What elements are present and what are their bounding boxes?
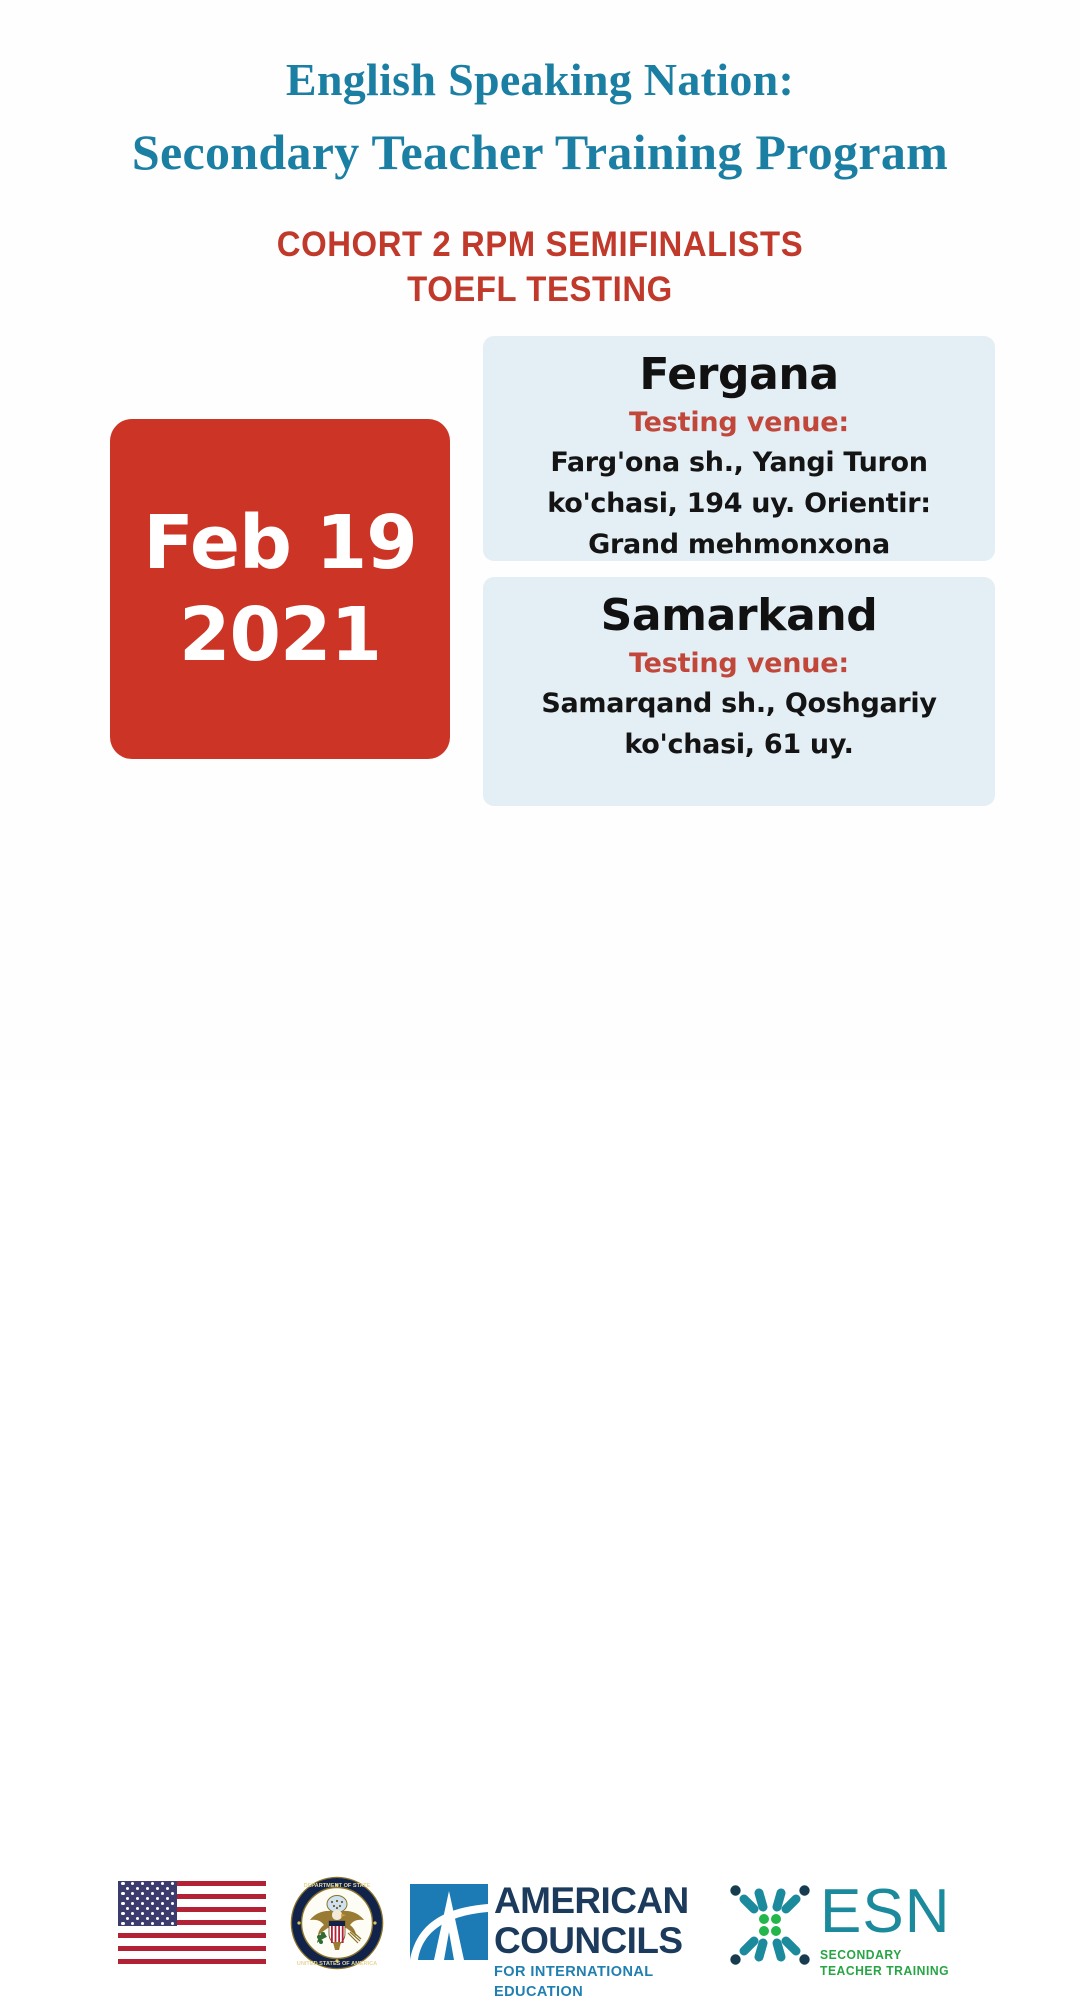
flag-star	[166, 1887, 169, 1890]
flag-star	[166, 1897, 169, 1900]
venue-address-line: Samarqand sh., Qoshgariy	[495, 683, 983, 724]
flag-star	[156, 1897, 159, 1900]
flag-star	[146, 1887, 149, 1890]
venue-card-samarkand: Samarkand Testing venue: Samarqand sh., …	[483, 577, 995, 806]
esn-word: ESN	[820, 1881, 963, 1943]
flag-star	[121, 1912, 124, 1915]
flag-star	[131, 1912, 134, 1915]
american-councils-mark-icon	[408, 1884, 490, 1969]
subtitle-line-1: COHORT 2 RPM SEMIFINALISTS	[32, 222, 1047, 267]
flag-star	[126, 1887, 129, 1890]
flag-star	[161, 1892, 164, 1895]
flag-star	[131, 1902, 134, 1905]
american-councils-logo: AMERICAN COUNCILS FOR INTERNATIONAL EDUC…	[408, 1882, 698, 1966]
flag-star	[151, 1912, 154, 1915]
venue-card-fergana: Fergana Testing venue: Farg'ona sh., Yan…	[483, 336, 995, 561]
flag-star	[156, 1917, 159, 1920]
american-councils-wordmark: AMERICAN COUNCILS FOR INTERNATIONAL EDUC…	[494, 1882, 698, 2002]
flag-star	[141, 1922, 144, 1925]
flag-star	[121, 1902, 124, 1905]
flag-star	[166, 1907, 169, 1910]
american-councils-tagline: FOR INTERNATIONAL EDUCATION	[494, 1962, 698, 2002]
svg-text:UNITED STATES OF AMERICA: UNITED STATES OF AMERICA	[297, 1961, 377, 1967]
flag-star	[121, 1892, 124, 1895]
flag-star	[136, 1887, 139, 1890]
flag-star	[126, 1907, 129, 1910]
flag-star	[171, 1882, 174, 1885]
flag-star	[146, 1907, 149, 1910]
flag-star	[131, 1882, 134, 1885]
flag-star	[131, 1892, 134, 1895]
esn-logo: ESN SECONDARY TEACHER TRAINING	[728, 1883, 963, 1969]
flag-star	[121, 1922, 124, 1925]
flag-canton	[118, 1881, 177, 1926]
flag-star	[151, 1892, 154, 1895]
flag-star	[156, 1907, 159, 1910]
date-line-1: Feb 19	[143, 497, 416, 589]
flag-star	[141, 1882, 144, 1885]
american-councils-line-2: COUNCILS	[494, 1922, 698, 1959]
venue-city: Samarkand	[495, 587, 983, 645]
flag-star	[151, 1902, 154, 1905]
venue-address-line: ko'chasi, 61 uy.	[495, 724, 983, 765]
flag-star	[146, 1897, 149, 1900]
flag-star	[161, 1902, 164, 1905]
flag-star	[136, 1897, 139, 1900]
venue-city: Fergana	[495, 346, 983, 404]
flag-star	[156, 1887, 159, 1890]
flag-star	[166, 1917, 169, 1920]
flag-star	[161, 1922, 164, 1925]
flag-star	[151, 1882, 154, 1885]
flag-star	[146, 1917, 149, 1920]
flag-star	[141, 1912, 144, 1915]
flag-star	[136, 1917, 139, 1920]
flag-stripe	[118, 1946, 266, 1951]
title-line-2: Secondary Teacher Training Program	[0, 116, 1080, 188]
flag-star	[151, 1922, 154, 1925]
poster-canvas: English Speaking Nation: Secondary Teach…	[0, 0, 1080, 1080]
flag-star	[171, 1912, 174, 1915]
esn-wordmark: ESN SECONDARY TEACHER TRAINING	[820, 1881, 963, 1979]
flag-star	[161, 1882, 164, 1885]
flag-star	[131, 1922, 134, 1925]
department-of-state-seal-icon: DEPARTMENT OF STATE UNITED STATES OF AME…	[290, 1876, 384, 1970]
venue-address-line: Farg'ona sh., Yangi Turon	[495, 442, 983, 483]
american-councils-line-1: AMERICAN	[494, 1882, 698, 1919]
esn-tagline: SECONDARY TEACHER TRAINING	[820, 1947, 959, 1979]
flag-star	[161, 1912, 164, 1915]
esn-mark-icon	[728, 1883, 812, 1967]
subtitle-line-2: TOEFL TESTING	[32, 267, 1047, 312]
venue-address-line: Grand mehmonxona	[495, 524, 983, 565]
poster-title: English Speaking Nation: Secondary Teach…	[0, 44, 1080, 188]
flag-star	[171, 1902, 174, 1905]
date-card: Feb 19 2021	[110, 419, 450, 759]
flag-star	[136, 1907, 139, 1910]
flag-star	[121, 1882, 124, 1885]
footer-logo-bar: DEPARTMENT OF STATE UNITED STATES OF AME…	[0, 930, 1080, 1050]
us-flag-icon	[118, 1881, 266, 1965]
date-line-2: 2021	[179, 589, 381, 681]
poster-subtitle: COHORT 2 RPM SEMIFINALISTS TOEFL TESTING	[0, 222, 1080, 312]
title-line-1: English Speaking Nation:	[0, 44, 1080, 116]
flag-star	[171, 1892, 174, 1895]
venue-label: Testing venue:	[495, 645, 983, 683]
flag-star	[171, 1922, 174, 1925]
venue-label: Testing venue:	[495, 404, 983, 442]
flag-star	[141, 1892, 144, 1895]
flag-stripe	[118, 1959, 266, 1964]
flag-star	[126, 1917, 129, 1920]
flag-star	[126, 1897, 129, 1900]
flag-star	[141, 1902, 144, 1905]
svg-text:DEPARTMENT OF STATE: DEPARTMENT OF STATE	[304, 1883, 371, 1889]
venue-address-line: ko'chasi, 194 uy. Orientir:	[495, 483, 983, 524]
flag-stripe	[118, 1933, 266, 1938]
